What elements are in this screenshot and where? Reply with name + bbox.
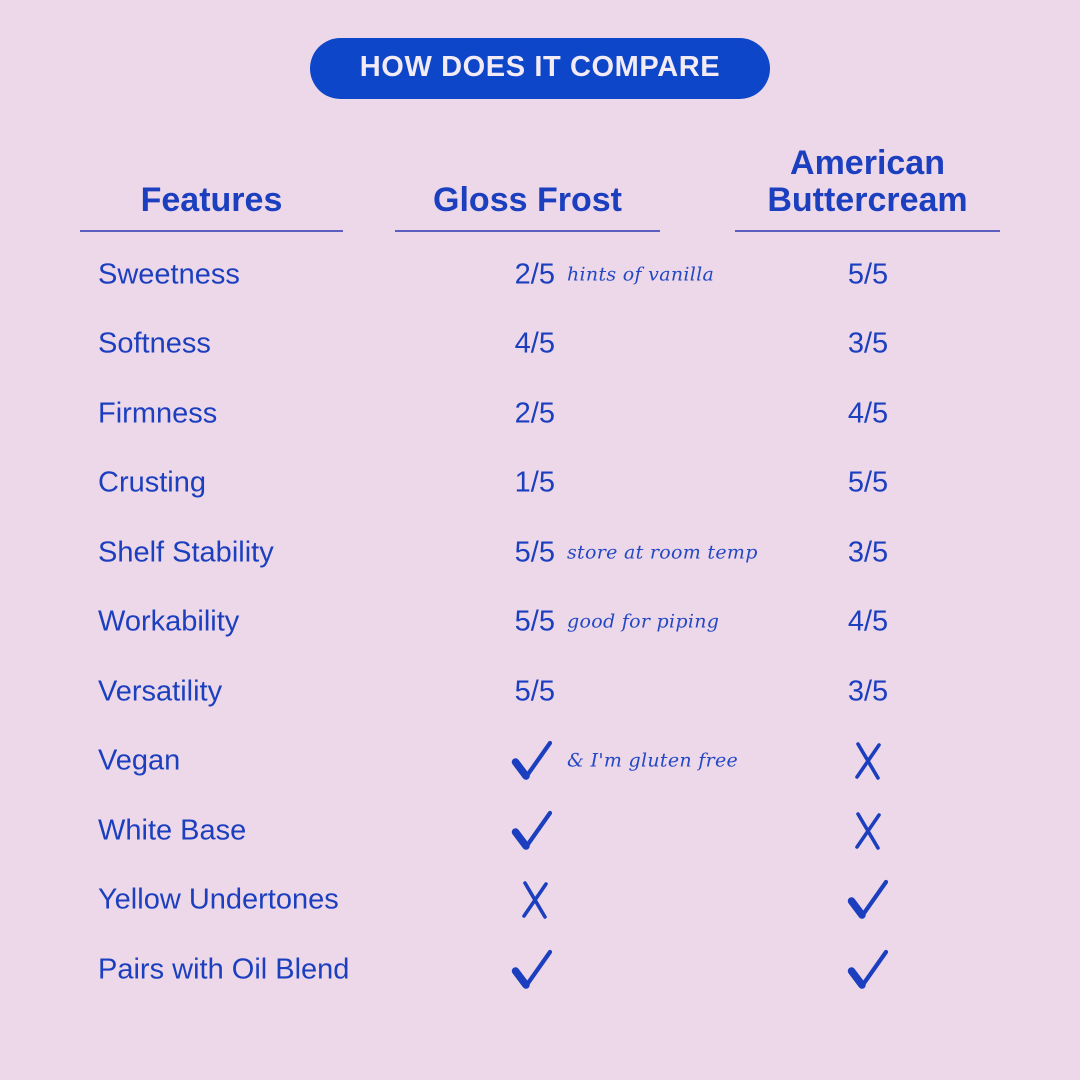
column-header-features: Features (80, 182, 343, 218)
check-icon (509, 947, 555, 993)
cross-icon (848, 808, 888, 854)
gloss-frost-value (475, 947, 555, 993)
cross-icon (848, 738, 888, 784)
gloss-frost-value (475, 877, 555, 923)
american-buttercream-value: 5/5 (798, 469, 938, 498)
american-buttercream-value: 3/5 (798, 677, 938, 706)
table-row: Sweetness2/5hints of vanilla5/5 (80, 240, 1000, 310)
american-buttercream-value: 4/5 (798, 399, 938, 428)
table-row: Vegan& I'm gluten free (80, 727, 1000, 797)
table-row: Pairs with Oil Blend (80, 935, 1000, 1005)
american-buttercream-value (798, 738, 938, 784)
american-buttercream-value: 4/5 (798, 608, 938, 637)
feature-label: Sweetness (98, 260, 240, 289)
table-row: Yellow Undertones (80, 866, 1000, 936)
handwritten-note: store at room temp (567, 543, 758, 562)
column-header-rule-gloss-frost (395, 230, 660, 232)
gloss-frost-value: 4/5 (475, 330, 555, 359)
feature-label: White Base (98, 816, 246, 845)
american-buttercream-value (798, 947, 938, 993)
comparison-table: Features Gloss Frost American Buttercrea… (80, 120, 1000, 1005)
table-row: White Base (80, 796, 1000, 866)
feature-label: Vegan (98, 747, 180, 776)
gloss-frost-value: 2/5 (475, 399, 555, 428)
american-buttercream-value (798, 877, 938, 923)
feature-label: Crusting (98, 469, 206, 498)
header-badge: HOW DOES IT COMPARE (310, 38, 770, 99)
check-icon (845, 877, 891, 923)
table-row: Shelf Stability5/5store at room temp3/5 (80, 518, 1000, 588)
gloss-frost-value: 5/5 (475, 538, 555, 567)
column-header-american-buttercream: American Buttercream (735, 145, 1000, 218)
feature-label: Shelf Stability (98, 538, 274, 567)
gloss-frost-value: 2/5 (475, 260, 555, 289)
header-badge-container: HOW DOES IT COMPARE (0, 38, 1080, 99)
handwritten-note: hints of vanilla (567, 265, 714, 284)
table-row: Versatility5/53/5 (80, 657, 1000, 727)
check-icon (509, 738, 555, 784)
table-row: Workability5/5good for piping4/5 (80, 588, 1000, 658)
table-row: Crusting1/55/5 (80, 449, 1000, 519)
table-body: Sweetness2/5hints of vanilla5/5Softness4… (80, 240, 1000, 1005)
feature-label: Workability (98, 608, 239, 637)
american-buttercream-value: 3/5 (798, 538, 938, 567)
feature-label: Softness (98, 330, 211, 359)
feature-label: Versatility (98, 677, 222, 706)
american-buttercream-value: 5/5 (798, 260, 938, 289)
table-row: Softness4/53/5 (80, 310, 1000, 380)
table-header-row: Features Gloss Frost American Buttercrea… (80, 120, 1000, 232)
column-header-rule-features (80, 230, 343, 232)
column-header-gloss-frost: Gloss Frost (395, 182, 660, 218)
table-row: Firmness2/54/5 (80, 379, 1000, 449)
gloss-frost-value: 5/5 (475, 608, 555, 637)
feature-label: Firmness (98, 399, 217, 428)
feature-label: Yellow Undertones (98, 886, 339, 915)
feature-label: Pairs with Oil Blend (98, 955, 349, 984)
american-buttercream-value: 3/5 (798, 330, 938, 359)
comparison-infographic: HOW DOES IT COMPARE Features Gloss Frost… (0, 0, 1080, 1080)
handwritten-note: & I'm gluten free (567, 752, 738, 771)
american-buttercream-value (798, 808, 938, 854)
gloss-frost-value (475, 738, 555, 784)
check-icon (845, 947, 891, 993)
check-icon (509, 808, 555, 854)
column-header-rule-american-buttercream (735, 230, 1000, 232)
handwritten-note: good for piping (567, 613, 719, 632)
gloss-frost-value (475, 808, 555, 854)
gloss-frost-value: 5/5 (475, 677, 555, 706)
cross-icon (515, 877, 555, 923)
gloss-frost-value: 1/5 (475, 469, 555, 498)
